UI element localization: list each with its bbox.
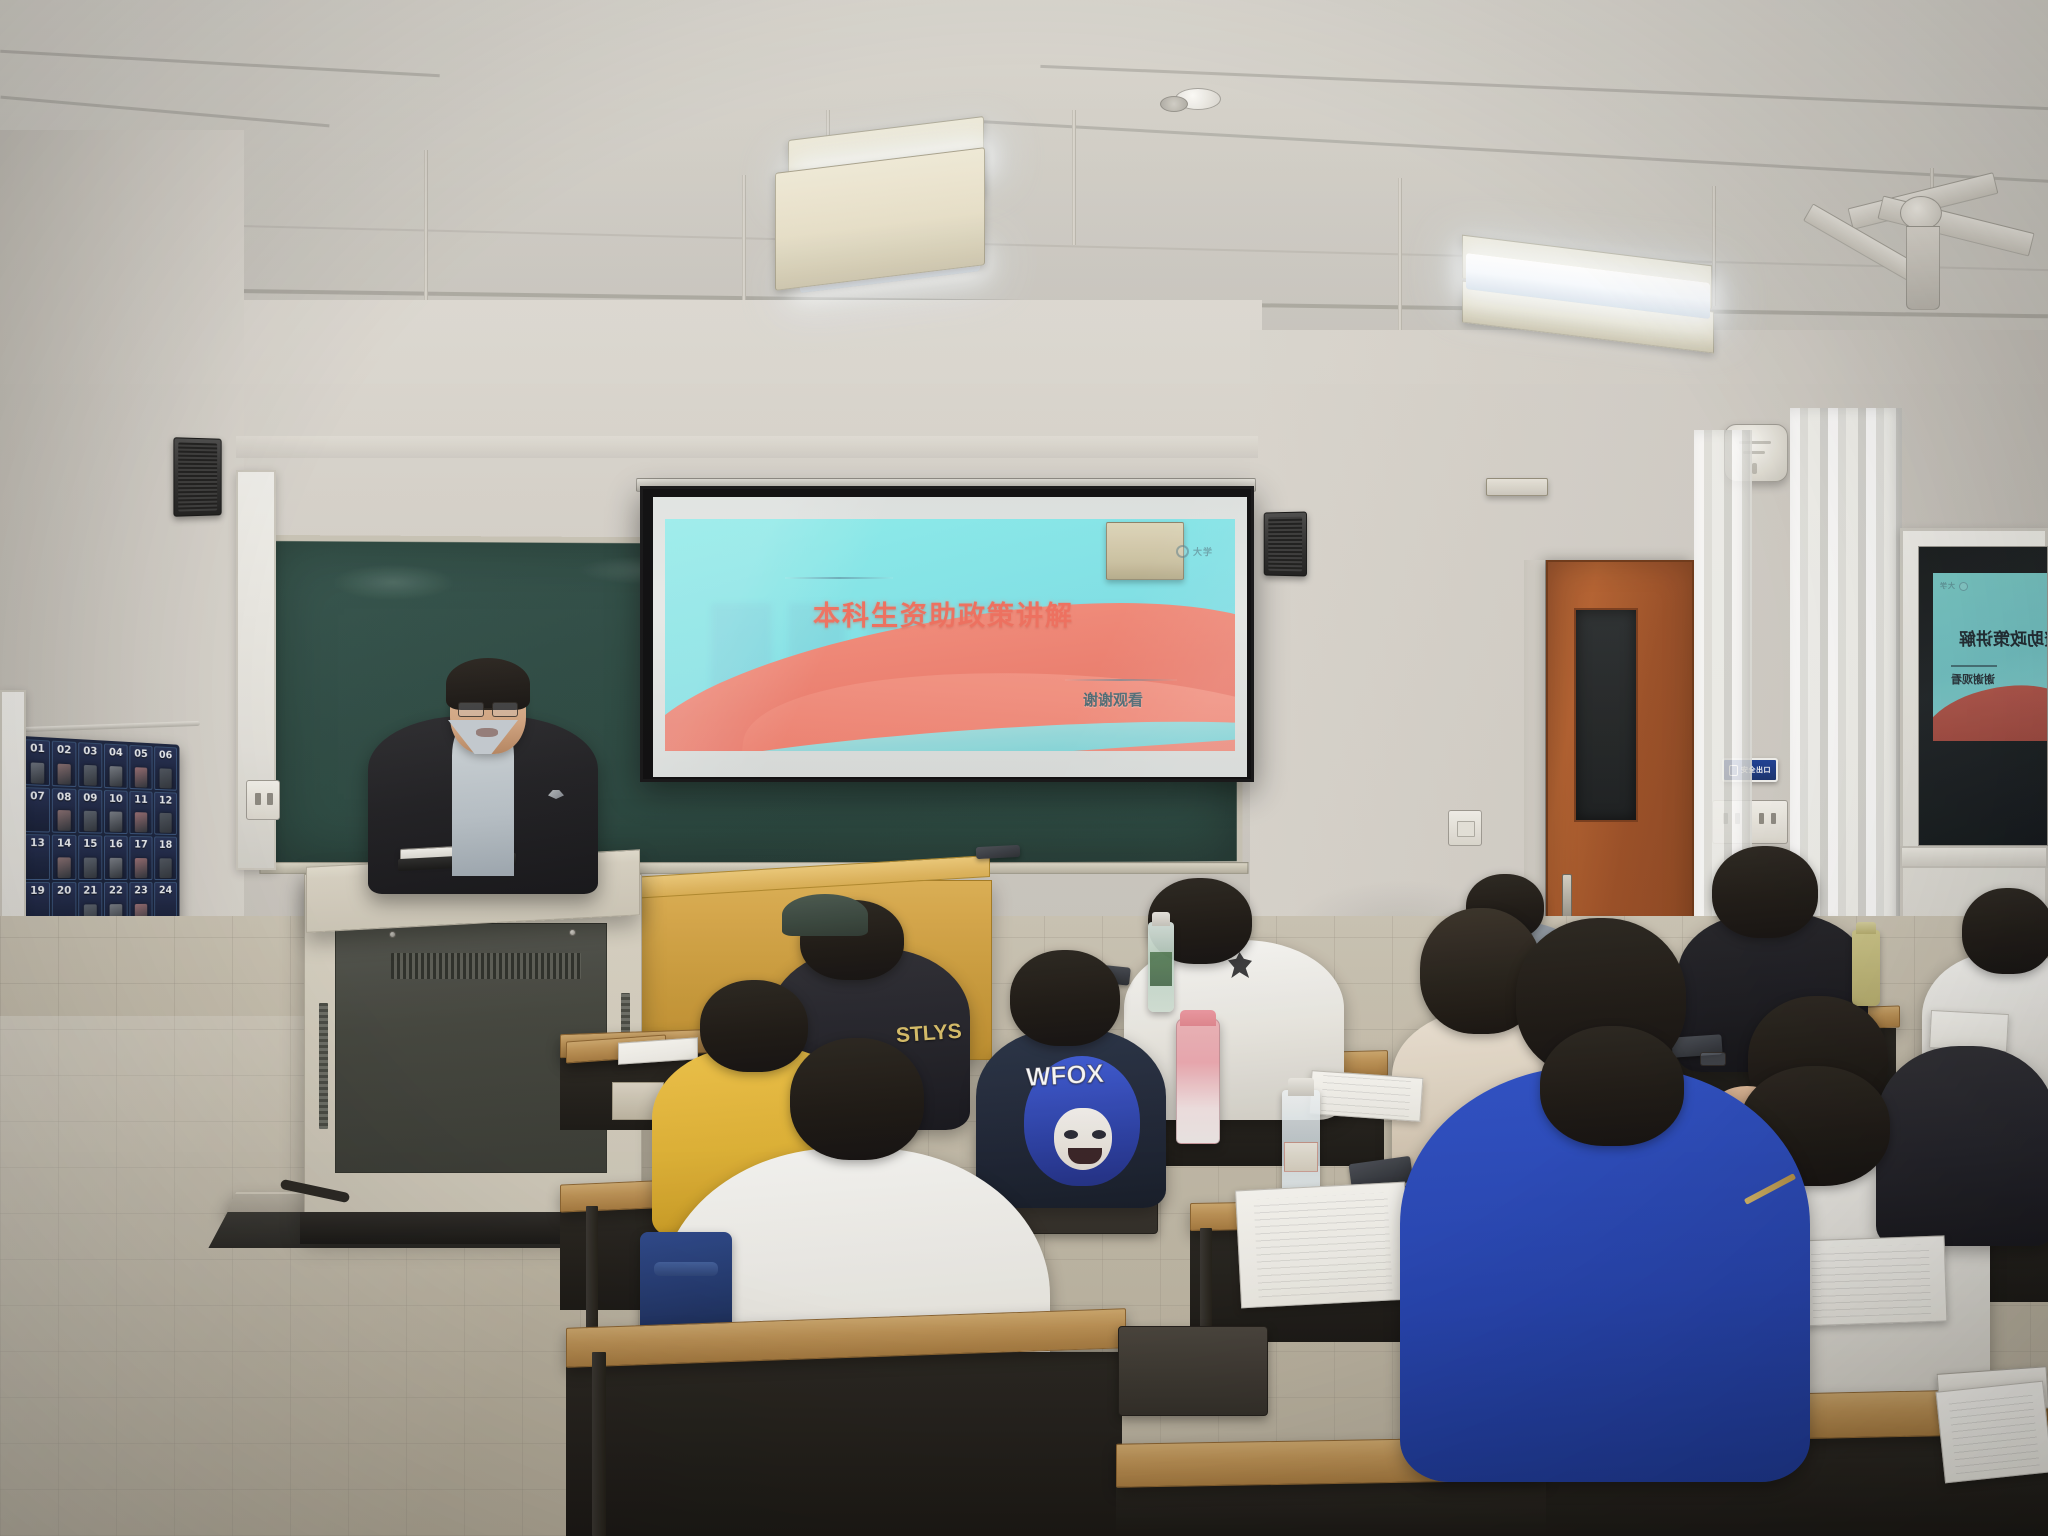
- pocket-number: 17: [134, 838, 148, 851]
- pocket-number: 20: [57, 884, 71, 897]
- bottle-label: [1284, 1142, 1318, 1172]
- pocket-slot: 14: [52, 835, 77, 880]
- stored-phone: [160, 813, 172, 833]
- student-head: [700, 980, 808, 1072]
- water-bottle: [1852, 930, 1880, 1006]
- pocket-slot: 04: [104, 743, 128, 788]
- light-switch[interactable]: [1448, 810, 1482, 846]
- pocket-number: 09: [83, 791, 97, 804]
- pocket-number: 16: [109, 838, 123, 851]
- worksheet-paper: [1935, 1381, 2048, 1484]
- graphic-eye: [1064, 1130, 1078, 1139]
- stored-phone: [160, 858, 172, 878]
- pocket-number: 06: [159, 748, 172, 761]
- ceiling-fan-hub: [1900, 196, 1942, 230]
- classroom-photo: 本科生资助政策讲解 谢谢观看 大学 安全出口: [0, 0, 2048, 1536]
- pocket-number: 19: [30, 884, 45, 897]
- stored-phone: [110, 766, 123, 787]
- pocket-number: 03: [83, 744, 97, 757]
- door-handle[interactable]: [1562, 874, 1572, 918]
- pocket-number: 14: [57, 837, 71, 850]
- stored-phone: [110, 812, 123, 832]
- window-sill: [1900, 846, 2048, 868]
- pocket-slot: 13: [25, 834, 50, 880]
- graphic-mouth: [1068, 1148, 1102, 1164]
- student-head: [1540, 1026, 1684, 1146]
- pink-thermos: [1176, 1018, 1220, 1144]
- stored-phone: [160, 768, 172, 788]
- desk-leg: [592, 1352, 606, 1536]
- logo-text: 大学: [1193, 545, 1213, 558]
- bottle-cap: [1152, 912, 1170, 926]
- desk-underside: [566, 1352, 1122, 1536]
- reflection-title: 本科生资助政策讲解: [1959, 625, 2048, 650]
- pocket-slot: 12: [154, 791, 177, 835]
- backpack-strap: [654, 1262, 718, 1276]
- stored-phone: [135, 767, 147, 788]
- student-head: [790, 1038, 924, 1160]
- wall-speaker: [1264, 511, 1307, 576]
- wall-mounted-box: [1106, 522, 1184, 580]
- light-hanger-rod: [1398, 178, 1402, 338]
- pocket-number: 18: [159, 839, 172, 851]
- pocket-slot: 01: [25, 739, 50, 786]
- pocket-number: 21: [83, 884, 97, 897]
- reflection-wave: [1933, 679, 2048, 741]
- pocket-number: 12: [159, 794, 172, 807]
- stored-phone: [84, 811, 97, 832]
- student-head: [1962, 888, 2048, 974]
- bottle-label: [1150, 952, 1172, 986]
- presenter-glasses-bridge: [483, 708, 493, 710]
- slide-rule-bottom: [1065, 679, 1177, 681]
- pocket-slot: 17: [129, 836, 152, 880]
- stored-phone: [58, 810, 71, 831]
- pocket-number: 01: [30, 741, 45, 755]
- pocket-number: 11: [134, 793, 148, 806]
- presenter-glasses-left: [458, 702, 484, 717]
- pocket-slot: 05: [129, 745, 152, 790]
- reflection-subtitle: 谢谢观看: [1951, 671, 1995, 687]
- pocket-number: 22: [109, 884, 123, 897]
- pocket-number: 02: [57, 743, 71, 757]
- graphic-eye: [1092, 1130, 1106, 1139]
- student-chair: [1118, 1326, 1268, 1416]
- stored-phone: [84, 858, 97, 878]
- student-body: [1876, 1046, 2048, 1246]
- projector-mount-rod: [1072, 110, 1076, 245]
- slide-reflection: 本科生资助政策讲解 谢谢观看 大学: [1933, 573, 2048, 741]
- student-head: [1010, 950, 1120, 1046]
- wall-speaker: [173, 437, 221, 517]
- university-logo-icon: 大学: [1176, 545, 1213, 558]
- light-hanger-rod: [1712, 186, 1716, 306]
- student-cap: [782, 894, 868, 936]
- pocket-number: 15: [83, 837, 97, 850]
- pocket-number: 24: [159, 884, 172, 896]
- logo-ring-icon: [1176, 545, 1189, 558]
- stored-phone: [58, 763, 71, 784]
- pocket-slot: 15: [78, 835, 102, 880]
- pocket-slot: 10: [104, 790, 128, 835]
- pocket-number: 05: [134, 747, 148, 760]
- bottle-cap: [1856, 922, 1876, 934]
- pocket-number: 04: [109, 746, 123, 759]
- podium-screw: [389, 931, 396, 938]
- wall-trim: [236, 436, 1258, 458]
- wall-conduit: [1486, 478, 1548, 496]
- podium-side-vent: [319, 1003, 328, 1129]
- stored-phone: [110, 858, 123, 878]
- pocket-slot: 03: [78, 742, 102, 788]
- presenter-mouth: [476, 728, 498, 737]
- door-window-panel: [1574, 608, 1638, 822]
- pocket-number: 10: [109, 792, 123, 805]
- pocket-number: 08: [57, 790, 71, 803]
- student-glasses: [1700, 1052, 1726, 1066]
- desk-leg: [586, 1206, 598, 1336]
- pocket-slot: 02: [52, 741, 77, 787]
- presenter-glasses-right: [492, 702, 518, 717]
- stored-phone: [84, 765, 97, 786]
- worksheet-paper: [1795, 1235, 1948, 1326]
- thermos-cap: [1180, 1010, 1216, 1026]
- stored-phone: [135, 812, 147, 832]
- pocket-number: 07: [30, 789, 45, 802]
- power-socket: [246, 780, 280, 820]
- smoke-detector-icon: [1160, 96, 1188, 112]
- stored-phone: [58, 857, 71, 878]
- stored-phone: [31, 762, 44, 783]
- slide-subtitle: 谢谢观看: [1083, 689, 1143, 710]
- stored-phone: [135, 858, 147, 878]
- worksheet-paper: [1235, 1182, 1411, 1309]
- student-head: [1712, 846, 1818, 938]
- pocket-number: 13: [30, 836, 45, 849]
- slide-title: 本科生资助政策讲解: [813, 594, 1074, 633]
- pocket-slot: 07: [25, 787, 50, 833]
- pen-on-ledge: [976, 845, 1021, 859]
- worksheet-paper: [1309, 1070, 1424, 1122]
- pocket-slot: 16: [104, 836, 128, 880]
- slide-rule-top: [785, 577, 893, 579]
- pocket-number: 23: [134, 884, 148, 896]
- pocket-slot: 08: [52, 788, 77, 834]
- podium-screw: [569, 929, 576, 936]
- pocket-slot: 11: [129, 791, 152, 835]
- podium-vent: [391, 953, 581, 979]
- pocket-slot: 09: [78, 789, 102, 834]
- bottle-cap: [1288, 1078, 1314, 1096]
- window-glass: 本科生资助政策讲解 谢谢观看 大学: [1918, 546, 2048, 846]
- pocket-slot: 06: [154, 746, 177, 790]
- ceiling-fan-downrod: [1906, 226, 1940, 310]
- pocket-slot: 18: [154, 837, 177, 880]
- desk-underside: [1116, 1478, 1546, 1536]
